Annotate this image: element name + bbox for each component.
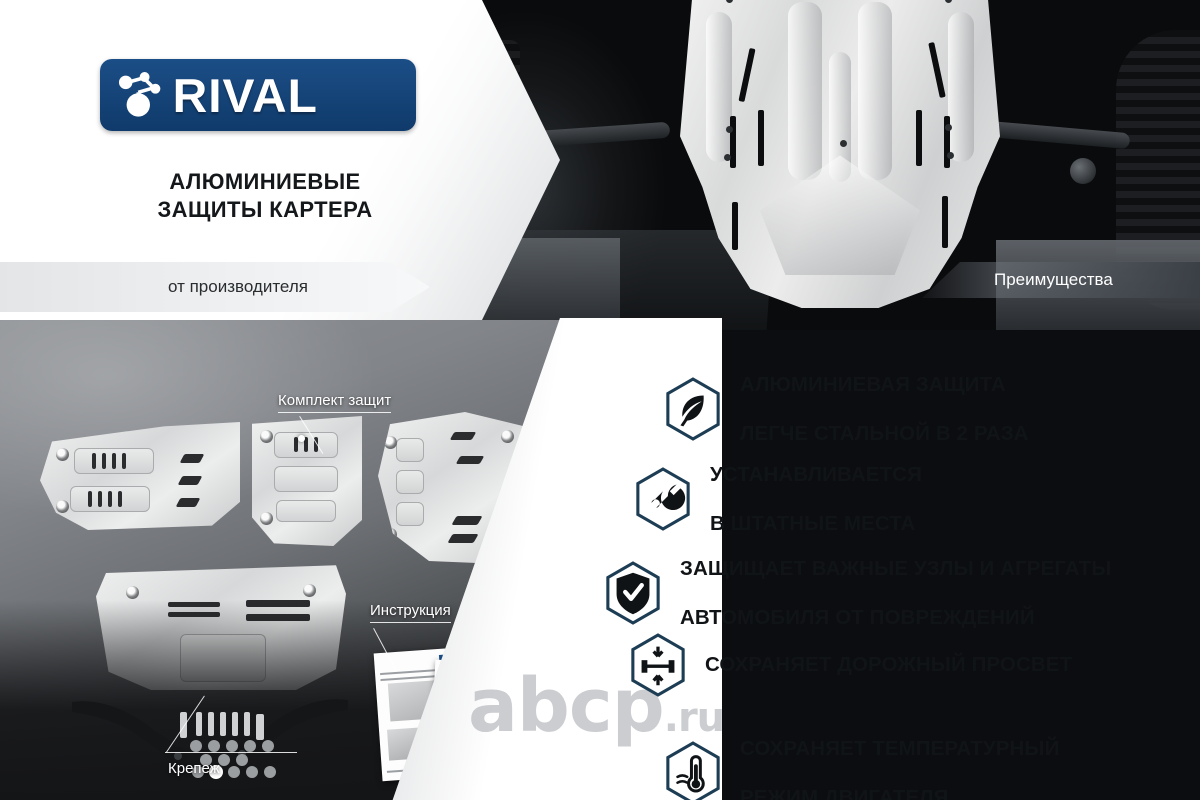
feature-line1-3: СОХРАНЯЕТ ДОРОЖНЫЙ ПРОСВЕТ [705,653,1072,678]
leaf-icon [664,377,722,441]
advantages-tab-label: Преимущества [994,270,1113,290]
molecule-icon [114,68,168,122]
brand-logo: RIVAL [100,59,416,131]
feature-item-3: СОХРАНЯЕТ ДОРОЖНЫЙ ПРОСВЕТ [629,628,1072,702]
features-list: АЛЮМИНИЕВАЯ ЗАЩИТА ЛЕГЧЕ СТАЛЬНОЙ В 2 РА… [612,330,1200,800]
brand-wordmark: RIVAL [173,72,318,119]
promo-banner: RIVAL АЛЮМИНИЕВЫЕ ЗАЩИТЫ КАРТЕРА от прои… [0,0,1200,800]
clearance-icon [629,633,687,697]
subtitle-strip: от производителя [0,262,430,312]
advantages-tab: Преимущества [922,262,1200,298]
callout-kit-dot [298,435,305,442]
feature-item-4: СОХРАНЯЕТ ТЕМПЕРАТУРНЫЙ РЕЖИМ ДВИГАТЕЛЯ [664,712,1059,800]
callout-fasteners: Крепеж [168,760,220,777]
bushing-right [1070,158,1096,184]
feature-line1-0: АЛЮМИНИЕВАЯ ЗАЩИТА [740,373,1029,398]
wrench-icon [634,467,692,531]
feature-line1-1: УСТАНАВЛИВАЕТСЯ [710,463,922,488]
subtitle-text: от производителя [168,277,308,297]
feature-line1-4: СОХРАНЯЕТ ТЕМПЕРАТУРНЫЙ [740,737,1059,762]
callout-fasteners-underline [165,752,297,753]
page-title-line1: АЛЮМИНИЕВЫЕ [100,168,430,196]
feature-line2-2: АВТОМОБИЛЯ ОТ ПОВРЕЖДЕНИЙ [680,606,1111,631]
page-title: АЛЮМИНИЕВЫЕ ЗАЩИТЫ КАРТЕРА [100,168,430,224]
callout-instruction: Инструкция [370,602,451,623]
page-title-line2: ЗАЩИТЫ КАРТЕРА [100,196,430,224]
feature-text-3: СОХРАНЯЕТ ДОРОЖНЫЙ ПРОСВЕТ [705,628,1072,702]
feature-text-4: СОХРАНЯЕТ ТЕМПЕРАТУРНЫЙ РЕЖИМ ДВИГАТЕЛЯ [740,712,1059,800]
callout-kit: Комплект защит [278,392,391,413]
feature-line2-4: РЕЖИМ ДВИГАТЕЛЯ [740,786,1059,800]
shield-check-icon [604,561,662,625]
feature-line1-2: ЗАЩИЩАЕТ ВАЖНЫЕ УЗЛЫ И АГРЕГАТЫ [680,557,1111,582]
thermometer-icon [664,741,722,800]
skid-plate-mid [252,416,362,546]
